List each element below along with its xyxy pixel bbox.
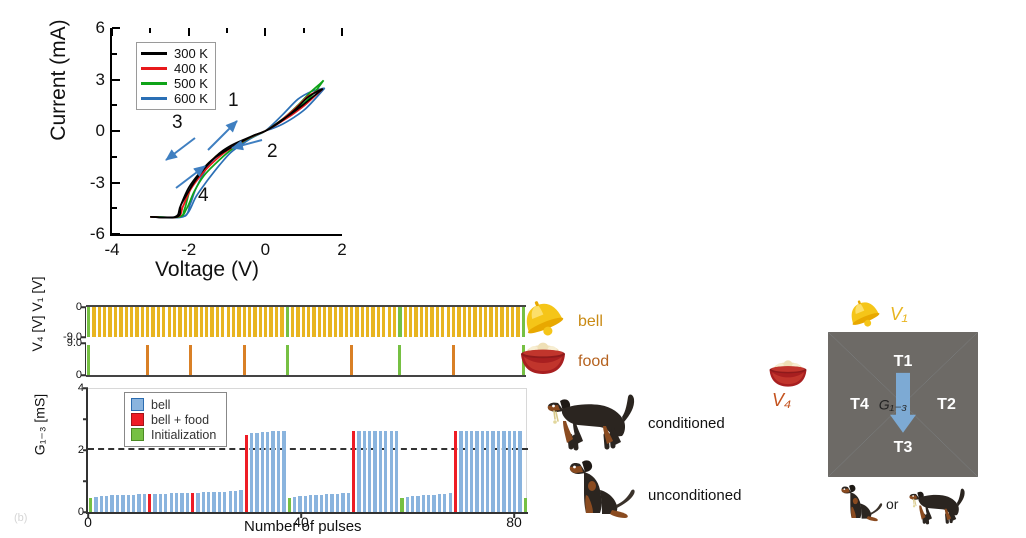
v1-bell-pulse (200, 307, 203, 337)
v1-bell-pulse (452, 307, 455, 337)
v1-bell-pulse (237, 307, 240, 337)
conductance-legend: bell bell + food Initialization (124, 392, 227, 447)
v4-food-pulse (189, 345, 192, 375)
conductance-plot-area: 0 2 4 bell bell + food Initialization (86, 388, 528, 514)
v1-bell-pulse (318, 307, 321, 337)
v1-bell-pulse (259, 307, 262, 337)
legend-item-initialization: Initialization (131, 427, 216, 442)
conductance-bar-bell (373, 431, 376, 512)
conductance-bar-init (524, 498, 527, 512)
v1-bell-pulse (371, 307, 374, 337)
v1-bell-pulse (350, 307, 353, 337)
device-cross-structure: T1 T2 T3 T4 G₁₋₃ (828, 332, 978, 477)
conductance-bar-bell (218, 492, 221, 512)
conductance-bar-bell (438, 494, 441, 512)
conductance-bar-bell (277, 431, 280, 512)
conductance-bar-bell (384, 431, 387, 512)
g-xtick-80: 80 (506, 514, 522, 530)
v1-bell-pulse (296, 307, 299, 337)
conductance-bar-bell (212, 492, 215, 512)
v1-init-pulse (286, 307, 289, 337)
v1-bell-pulse (484, 307, 487, 337)
conductance-bar-init (89, 498, 92, 512)
v1-bell-pulse (151, 307, 154, 337)
conductance-bar-bell (486, 431, 489, 512)
v1-bell-pulse (248, 307, 251, 337)
conductance-bar-bell (347, 493, 350, 512)
conductance-bar-bell (229, 491, 232, 512)
v1-bell-pulse (280, 307, 283, 337)
legend-label-initialization: Initialization (151, 428, 216, 442)
iv-plot-area: 6 3 0 -3 -6 -4 -2 0 2 (110, 28, 342, 236)
v1-bell-pulse (227, 307, 230, 337)
v1-bell-pulse (323, 307, 326, 337)
v4-food-pulse (452, 345, 455, 375)
v1-bell-pulse (205, 307, 208, 337)
legend-item-300k: 300 K (141, 46, 208, 61)
legend-label-bell: bell (151, 398, 170, 412)
v1-label: V₁ (890, 304, 908, 325)
conductance-bar-bell (508, 431, 511, 512)
legend-swatch-300k (141, 52, 167, 55)
legend-label-300k: 300 K (174, 46, 208, 61)
v1-bell-pulse (232, 307, 235, 337)
device-bell-icon (840, 298, 888, 330)
conductance-bar-bell (304, 496, 307, 512)
conductance-bar-bell (250, 433, 253, 512)
bell-label: bell (578, 313, 603, 331)
legend-swatch-500k (141, 82, 167, 85)
legend-swatch-600k (141, 97, 167, 100)
v1-bell-pulse (98, 307, 101, 337)
conductance-bar-bell (443, 494, 446, 512)
device-food-icon (762, 358, 814, 390)
conductance-bar-bell (491, 431, 494, 512)
conductance-bar-bell (116, 495, 119, 512)
v1-bell-pulse (334, 307, 337, 337)
conductance-bar-bell (406, 497, 409, 513)
v1-bell-pulse (221, 307, 224, 337)
v1-bell-pulse (355, 307, 358, 337)
device-conductance-label: G₁₋₃ (879, 396, 907, 413)
iv-ytick-0: 0 (96, 121, 112, 141)
conductance-bar-bell (266, 432, 269, 512)
conductance-bar-bell (196, 493, 199, 512)
conductance-bar-bell (422, 495, 425, 512)
conductance-bar-bell (121, 495, 124, 512)
conductance-bar-bell (325, 494, 328, 512)
legend-swatch-initialization (131, 428, 144, 441)
v1-init-pulse (87, 307, 90, 337)
conductance-bar-bell (207, 492, 210, 512)
iv-arrow-label-3: 3 (172, 112, 183, 134)
conductance-bar-bell (186, 493, 189, 512)
legend-label-500k: 500 K (174, 76, 208, 91)
v1-bell-pulse (135, 307, 138, 337)
v1-bell-pulse (500, 307, 503, 337)
legend-label-400k: 400 K (174, 61, 208, 76)
conditioned-label: conditioned (648, 415, 725, 432)
food-bowl-icon (512, 340, 574, 378)
v1-bell-pulse (162, 307, 165, 337)
legend-label-600k: 600 K (174, 91, 208, 106)
v1-bell-pulse (473, 307, 476, 337)
v1-bell-pulse (141, 307, 144, 337)
v4-label: V₄ (772, 390, 791, 411)
v1-bell-pulse (264, 307, 267, 337)
conductance-bar-bell (100, 496, 103, 512)
conductance-bar-bell (127, 495, 130, 512)
v1-bell-pulse (425, 307, 428, 337)
v1-bell-pulse (382, 307, 385, 337)
conductance-bar-bellfood (191, 493, 194, 512)
conductance-bar-bell (159, 494, 162, 512)
iv-arrow-label-2: 2 (267, 141, 278, 163)
iv-y-axis-label: Current (mA) (47, 5, 71, 155)
iv-ytick-6: 6 (96, 18, 112, 38)
conductance-bar-bell (175, 493, 178, 512)
conditioned-dog-icon (540, 381, 648, 453)
device-conditioned-dog-icon (904, 480, 974, 526)
v1-bell-pulse (194, 307, 197, 337)
conductance-bar-bell (432, 495, 435, 512)
conductance-bar-bell (341, 493, 344, 512)
legend-item-600k: 600 K (141, 91, 208, 106)
v1-bell-pulse (184, 307, 187, 337)
v1-bell-pulse (441, 307, 444, 337)
conductance-bar-bellfood (245, 435, 248, 513)
v1-bell-pulse (468, 307, 471, 337)
conductance-bar-bell (137, 494, 140, 512)
conductance-bar-bell (459, 431, 462, 512)
conductance-bar-bell (234, 491, 237, 512)
conductance-bar-bell (330, 494, 333, 512)
conductance-bar-bell (465, 431, 468, 512)
v1-bell-pulse (414, 307, 417, 337)
conductance-bar-bell (309, 495, 312, 512)
food-label: food (578, 353, 609, 371)
v1-bell-pulse (479, 307, 482, 337)
device-schematic-panel: V₁ V₄ T1 T2 T3 T4 G₁₋₃ (756, 296, 1022, 536)
v1-bell-pulse (269, 307, 272, 337)
v1-bell-pulse (146, 307, 149, 337)
legend-item-bell-food: bell + food (131, 412, 216, 427)
bell-icon (512, 298, 574, 340)
conductance-bar-bellfood (352, 431, 355, 512)
iv-x-axis-label: Voltage (V) (62, 258, 352, 282)
conductance-bar-bell (282, 431, 285, 512)
v1-bell-pulse (463, 307, 466, 337)
v1-bell-pulse (430, 307, 433, 337)
conductance-bar-bell (298, 496, 301, 512)
v1-bell-pulse (291, 307, 294, 337)
conductance-bar-bell (368, 431, 371, 512)
pavlov-experiment-panel: V₄ [V] V₁ [V] G₁₋₃ [mS] 0 -9.0 9.0 0 0 2… (14, 296, 529, 536)
v1-bell-pulse (328, 307, 331, 337)
conductance-bar-bell (416, 496, 419, 512)
pulse-y-axis-label: V₄ [V] V₁ [V] (29, 269, 45, 359)
v1-pulse-train: 0 -9.0 (86, 305, 526, 337)
v1-bell-pulse (361, 307, 364, 337)
v1-bell-pulse (436, 307, 439, 337)
unconditioned-dog-icon (558, 450, 644, 522)
v1-bell-pulse (103, 307, 106, 337)
conductance-bar-bell (180, 493, 183, 512)
conductance-bar-bell (336, 494, 339, 512)
legend-swatch-bell (131, 398, 144, 411)
conductance-bar-bell (379, 431, 382, 512)
conductance-bar-bell (502, 431, 505, 512)
conductance-bar-bell (395, 431, 398, 512)
conductance-bar-bell (164, 494, 167, 512)
iv-xtick-n2: -2 (181, 234, 196, 260)
v1-bell-pulse (243, 307, 246, 337)
v1-bell-pulse (420, 307, 423, 337)
conductance-bar-bell (110, 495, 113, 512)
conductance-bar-bell (411, 496, 414, 512)
conductance-bar-bell (470, 431, 473, 512)
v1-bell-pulse (345, 307, 348, 337)
v1-bell-pulse (130, 307, 133, 337)
conductance-bar-bell (427, 495, 430, 512)
conductance-bar-bell (357, 431, 360, 512)
conductance-bar-bell (475, 431, 478, 512)
legend-item-500k: 500 K (141, 76, 208, 91)
legend-swatch-400k (141, 67, 167, 70)
unconditioned-label: unconditioned (648, 487, 741, 504)
conductance-bar-bell (449, 493, 452, 512)
device-unconditioned-dog-icon (834, 478, 888, 524)
v1-bell-pulse (114, 307, 117, 337)
v4-pulse-train: 9.0 0 (86, 343, 526, 377)
v4-init-pulse (398, 345, 401, 375)
conductance-bar-bell (255, 433, 258, 512)
v1-bell-pulse (377, 307, 380, 337)
conductance-bar-bell (513, 431, 516, 512)
conductance-bar-bell (94, 497, 97, 513)
legend-label-bell-food: bell + food (151, 413, 209, 427)
v1-bell-pulse (125, 307, 128, 337)
legend-swatch-bell-food (131, 413, 144, 426)
v1-init-pulse (398, 307, 401, 337)
v1-bell-pulse (339, 307, 342, 337)
iv-ytick-n3: -3 (90, 173, 112, 193)
v1-bell-pulse (92, 307, 95, 337)
v4-food-pulse (243, 345, 246, 375)
iv-xtick-0: 0 (261, 234, 270, 260)
legend-item-400k: 400 K (141, 61, 208, 76)
v1-bell-pulse (307, 307, 310, 337)
conductance-bar-bell (293, 497, 296, 513)
iv-xtick-2: 2 (337, 234, 346, 260)
conductance-bar-bell (202, 492, 205, 512)
conductance-bar-bell (223, 492, 226, 512)
terminal-label-t3: T3 (894, 439, 913, 457)
conductance-bar-bell (481, 431, 484, 512)
v1-bell-pulse (404, 307, 407, 337)
v1-bell-pulse (393, 307, 396, 337)
conductance-bar-bell (143, 494, 146, 512)
terminal-label-t1: T1 (894, 353, 913, 371)
v1-bell-pulse (495, 307, 498, 337)
conductance-x-axis-label: Number of pulses (244, 518, 362, 535)
conductance-bar-bell (390, 431, 393, 512)
v1-bell-pulse (168, 307, 171, 337)
terminal-label-t4: T4 (850, 396, 869, 414)
conductance-bar-bell (153, 494, 156, 512)
v1-bell-pulse (457, 307, 460, 337)
panel-corner-tag: (b) (14, 512, 27, 524)
v1-bell-pulse (506, 307, 509, 337)
conductance-bar-init (400, 498, 403, 512)
iv-legend: 300 K 400 K 500 K 600 K (136, 42, 216, 110)
conductance-bar-bell (105, 496, 108, 512)
v4-food-pulse (146, 345, 149, 375)
v1-bell-pulse (189, 307, 192, 337)
iv-ytick-3: 3 (96, 70, 112, 90)
v1-bell-pulse (275, 307, 278, 337)
v1-bell-pulse (216, 307, 219, 337)
iv-arrow-label-1: 1 (228, 90, 239, 112)
v1-bell-pulse (210, 307, 213, 337)
conductance-bar-bell (314, 495, 317, 512)
conductance-bar-init (288, 498, 291, 512)
v4-init-pulse (286, 345, 289, 375)
conductance-bar-bell (497, 431, 500, 512)
v1-bell-pulse (108, 307, 111, 337)
conductance-bar-bell (239, 490, 242, 512)
g-xtick-0: 0 (84, 514, 92, 530)
conductance-bar-bellfood (454, 431, 457, 512)
terminal-label-t2: T2 (937, 396, 956, 414)
conductance-bar-bell (518, 431, 521, 512)
v1-bell-pulse (489, 307, 492, 337)
v1-bell-pulse (366, 307, 369, 337)
v4-food-pulse (350, 345, 353, 375)
iv-xtick-n4: -4 (104, 234, 119, 260)
v1-bell-pulse (173, 307, 176, 337)
v1-bell-pulse (409, 307, 412, 337)
iv-chart-panel: Current (mA) Voltage (V) 6 3 0 -3 -6 -4 … (22, 8, 362, 290)
conductance-bar-bell (170, 493, 173, 512)
conductance-bar-bellfood (148, 494, 151, 512)
v1-bell-pulse (302, 307, 305, 337)
iv-arrow-label-4: 4 (198, 185, 209, 207)
conductance-bar-bell (261, 432, 264, 512)
v1-bell-pulse (157, 307, 160, 337)
v1-bell-pulse (178, 307, 181, 337)
v1-bell-pulse (119, 307, 122, 337)
v1-bell-pulse (253, 307, 256, 337)
conductance-bar-bell (132, 495, 135, 512)
v4-init-pulse (87, 345, 90, 375)
conductance-bar-bell (271, 431, 274, 512)
legend-item-bell: bell (131, 397, 216, 412)
conductance-bar-bell (363, 431, 366, 512)
v1-bell-pulse (388, 307, 391, 337)
conductance-y-axis-label: G₁₋₃ [mS] (32, 385, 49, 465)
or-label: or (886, 496, 898, 512)
v1-bell-pulse (312, 307, 315, 337)
v1-bell-pulse (447, 307, 450, 337)
conductance-bar-bell (320, 495, 323, 512)
